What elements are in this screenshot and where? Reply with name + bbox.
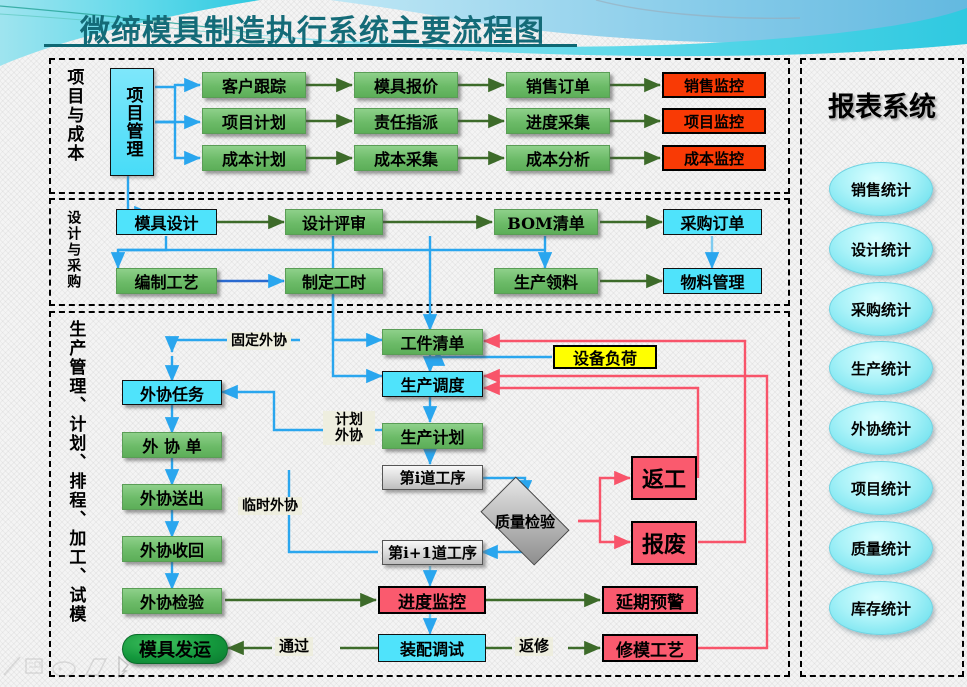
node-project-plan[interactable]: 项目计划	[202, 108, 306, 134]
node-scrap[interactable]: 报废	[631, 521, 697, 565]
node-sales-order[interactable]: 销售订单	[506, 72, 610, 98]
node-equipment-load[interactable]: 设备负荷	[553, 345, 657, 369]
section-label-design-purchase: 设计与采购	[66, 210, 80, 294]
node-rework[interactable]: 返工	[631, 456, 697, 500]
node-production-picking[interactable]: 生产领料	[494, 268, 598, 294]
node-outsourcing-send[interactable]: 外协送出	[122, 484, 222, 510]
title-underline	[44, 44, 577, 47]
edge-label-fixed-outsourcing: 固定外协	[227, 332, 291, 350]
section-label-project-cost: 项目与成本	[64, 68, 81, 182]
node-progress-monitor[interactable]: 进度监控	[378, 586, 486, 614]
node-bom-list[interactable]: BOM清单	[494, 209, 598, 235]
edge-label-pass: 通过	[275, 637, 313, 656]
quality-check-label: 质量检验	[495, 511, 555, 532]
node-design-review[interactable]: 设计评审	[285, 209, 383, 235]
node-production-scheduling[interactable]: 生产调度	[382, 371, 483, 397]
node-process-step-i[interactable]: 第i道工序	[382, 465, 483, 490]
node-mold-quotation[interactable]: 模具报价	[354, 72, 458, 98]
node-customer-tracking[interactable]: 客户跟踪	[202, 72, 306, 98]
node-sales-monitor[interactable]: 销售监控	[662, 72, 766, 98]
node-cost-plan[interactable]: 成本计划	[202, 145, 306, 171]
edge-label-rework-return: 返修	[515, 637, 553, 656]
report-item-quality[interactable]: 质量统计	[829, 521, 933, 575]
node-work-hours[interactable]: 制定工时	[285, 268, 383, 294]
report-item-project[interactable]: 项目统计	[829, 461, 933, 515]
report-item-inventory[interactable]: 库存统计	[829, 581, 933, 635]
node-process-step-i-plus-1[interactable]: 第i+1道工序	[382, 540, 483, 565]
watermark-toolbar-icons	[2, 645, 132, 685]
report-item-outsourcing[interactable]: 外协统计	[829, 401, 933, 455]
report-item-purchase[interactable]: 采购统计	[829, 282, 933, 336]
node-progress-collection[interactable]: 进度采集	[506, 108, 610, 134]
node-material-management[interactable]: 物料管理	[663, 268, 762, 294]
node-mold-shipment[interactable]: 模具发运	[122, 634, 228, 664]
node-quality-check[interactable]: 质量检验	[487, 496, 563, 546]
node-production-plan[interactable]: 生产计划	[382, 423, 483, 449]
node-outsourcing-task[interactable]: 外协任务	[122, 380, 222, 405]
node-project-monitor[interactable]: 项目监控	[662, 108, 766, 134]
node-delay-alert[interactable]: 延期预警	[602, 586, 698, 614]
report-item-sales[interactable]: 销售统计	[829, 162, 933, 216]
node-assembly-debug[interactable]: 装配调试	[378, 634, 486, 662]
node-project-management[interactable]: 项目管理	[110, 68, 154, 176]
node-mold-design[interactable]: 模具设计	[116, 209, 217, 235]
node-purchase-order[interactable]: 采购订单	[663, 209, 762, 235]
node-outsourcing-inspect[interactable]: 外协检验	[122, 588, 222, 614]
node-outsourcing-receive[interactable]: 外协收回	[122, 536, 222, 562]
report-item-design[interactable]: 设计统计	[829, 222, 933, 276]
node-cost-analysis[interactable]: 成本分析	[506, 145, 610, 171]
report-item-production[interactable]: 生产统计	[829, 341, 933, 395]
section-label-production: 生产管理、计划、排程、加工、试模	[66, 320, 83, 668]
edge-label-temporary-outsourcing: 临时外协	[238, 497, 302, 515]
report-system-title: 报表系统	[828, 85, 936, 124]
node-process-preparation[interactable]: 编制工艺	[116, 268, 217, 294]
node-cost-collection[interactable]: 成本采集	[354, 145, 458, 171]
node-cost-monitor[interactable]: 成本监控	[662, 145, 766, 171]
node-workpiece-list[interactable]: 工件清单	[382, 329, 483, 355]
node-repair-process[interactable]: 修模工艺	[602, 634, 698, 662]
node-outsourcing-order[interactable]: 外 协 单	[122, 432, 222, 458]
edge-label-planned-outsourcing: 计划外协	[323, 411, 375, 445]
node-responsibility-assign[interactable]: 责任指派	[354, 108, 458, 134]
